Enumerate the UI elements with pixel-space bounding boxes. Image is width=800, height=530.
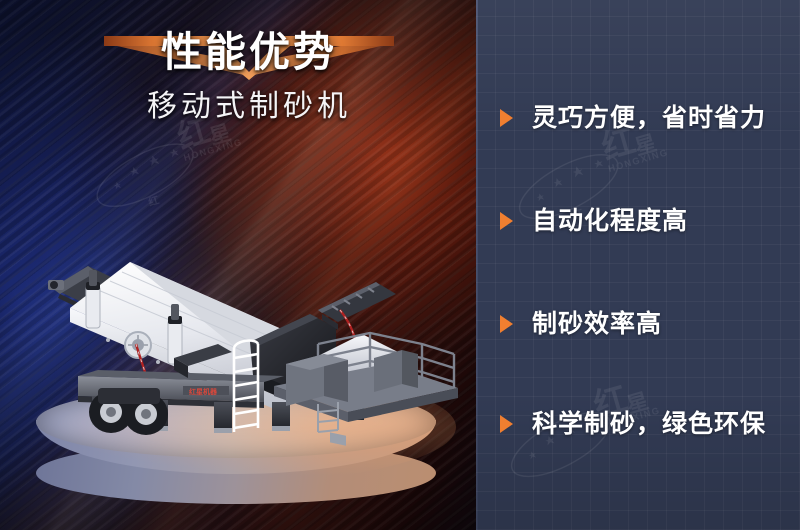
page-subtitle: 移动式制砂机 <box>104 86 394 128</box>
svg-text:红星机器: 红星机器 <box>189 387 218 396</box>
title-block: 性能优势 移动式制砂机 <box>104 24 404 132</box>
feature-item-2-label: 自动化程度高 <box>532 203 688 239</box>
features-panel: 红 星 HONGXING 红 红 <box>476 0 800 530</box>
promo-banner: 红 星 HONGXING 红 红 <box>0 0 800 530</box>
feature-list: 灵巧方便，省时省力 自动化程度高 制砂效率高 科学制砂，绿色环保 <box>476 0 800 530</box>
triangle-right-icon <box>500 109 513 127</box>
feature-item-2[interactable]: 自动化程度高 <box>500 203 688 239</box>
triangle-right-icon <box>500 212 513 230</box>
triangle-right-icon <box>500 415 513 433</box>
hero-panel: 红 星 HONGXING 红 红 <box>0 0 476 530</box>
page-title: 性能优势 <box>104 24 394 80</box>
feature-item-4[interactable]: 科学制砂，绿色环保 <box>500 406 766 442</box>
feature-item-1-label: 灵巧方便，省时省力 <box>532 100 766 136</box>
feature-item-1[interactable]: 灵巧方便，省时省力 <box>500 100 766 136</box>
feature-item-3[interactable]: 制砂效率高 <box>500 306 662 342</box>
feature-item-4-label: 科学制砂，绿色环保 <box>532 406 766 442</box>
feature-item-3-label: 制砂效率高 <box>532 306 662 342</box>
product-image-mobile-sand-making-machine: 红星机器 <box>18 236 466 448</box>
triangle-right-icon <box>500 315 513 333</box>
